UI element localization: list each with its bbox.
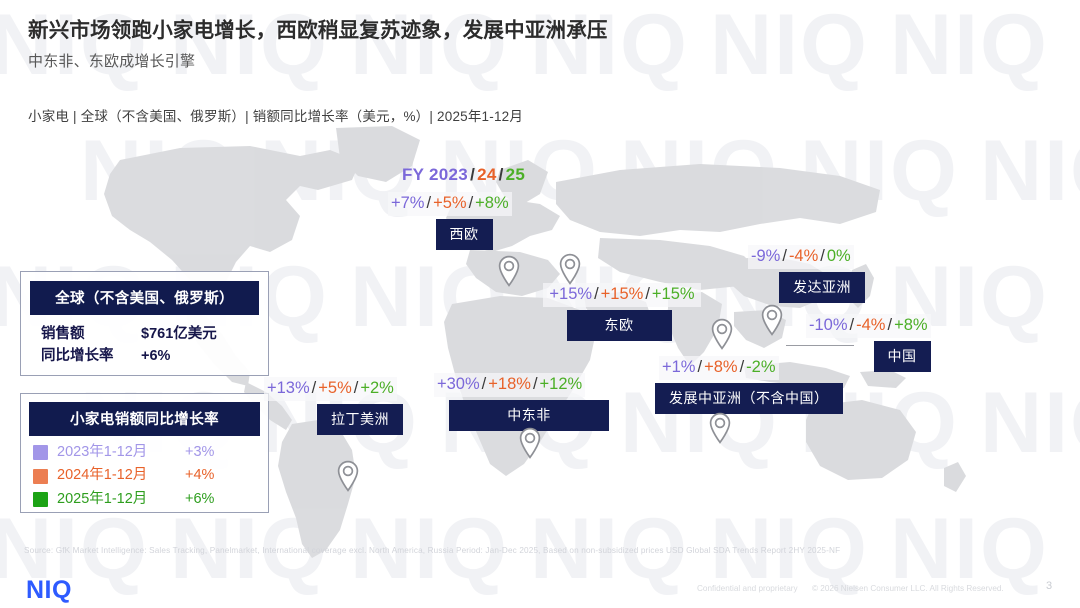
global-panel-rows: 销售额 $761亿美元 同比增长率 +6% (21, 315, 268, 368)
latam-2025-value: +2% (360, 379, 393, 397)
page-meta-line: 小家电 | 全球（不含美国、俄罗斯）| 销额同比增长率（美元，%）| 2025年… (28, 105, 523, 125)
page-number: 3 (1046, 580, 1052, 592)
fy-legend-header: FY 2023/24/25 (402, 165, 525, 185)
region-west-europe: +7%/+5%/+8% 西欧 (388, 192, 540, 250)
region-developed-asia-values: -9%/-4%/0% (748, 245, 854, 269)
watermark-text: NIQ (620, 128, 779, 214)
niq-logo: NIQ (26, 576, 72, 605)
mea-2024-value: +18% (488, 375, 531, 393)
map-pin-west-europe-icon (497, 255, 521, 292)
list-item: 2025年1-12月 +6% (33, 488, 268, 511)
region-developed-asia-label: 发达亚洲 (779, 272, 865, 303)
fy-2025-label: 25 (506, 165, 526, 184)
page-title: 新兴市场领跑小家电增长，西欧稍显复苏迹象，发展中亚洲承压 (28, 18, 1048, 44)
developed-asia-2023-value: -9% (751, 247, 780, 265)
developing-asia-2025-value: -2% (746, 358, 775, 376)
legend-label-2024: 2024年1-12月 (57, 464, 185, 487)
page-subtitle: 中东非、东欧成增长引擎 (28, 50, 1048, 71)
watermark-text: NIQ (800, 128, 959, 214)
region-developed-asia: -9%/-4%/0% 发达亚洲 (748, 245, 896, 303)
global-panel-title: 全球（不含美国、俄罗斯） (30, 281, 259, 315)
watermark-text: NIQ (980, 380, 1080, 466)
map-pin-latam-icon (336, 460, 360, 497)
global-growth-key: 同比增长率 (41, 345, 141, 367)
region-east-europe: +15%/+15%/+15% 东欧 (543, 283, 703, 341)
china-2024-value: -4% (856, 316, 885, 334)
region-east-europe-label: 东欧 (567, 310, 672, 341)
fy-sep-2: / (497, 165, 506, 184)
developing-asia-2023-value: +1% (662, 358, 695, 376)
slide-root: NIQ NIQ NIQ NIQ NIQ NIQ NIQ NIQ NIQ NIQ … (0, 0, 1080, 608)
region-latam-values: +13%/+5%/+2% (264, 377, 397, 401)
region-west-europe-values: +7%/+5%/+8% (388, 192, 512, 216)
table-row: 同比增长率 +6% (41, 345, 268, 367)
watermark-text: NIQ (350, 254, 509, 340)
region-mea-values: +30%/+18%/+12% (434, 373, 585, 397)
map-pin-developing-asia-west-icon (710, 318, 734, 355)
legend-value-2025: +6% (185, 488, 214, 511)
developed-asia-2024-value: -4% (789, 247, 818, 265)
region-developing-asia: +1%/+8%/-2% 发展中亚洲（不含中国） (655, 356, 843, 414)
east-europe-2025-value: +15% (652, 285, 695, 303)
region-middle-east-africa: +30%/+18%/+12% 中东非 (434, 373, 624, 431)
legend-value-2023: +3% (185, 441, 214, 464)
watermark-text: NIQ (80, 128, 239, 214)
legend-label-2025: 2025年1-12月 (57, 488, 185, 511)
fy-2023-label: FY 2023 (402, 165, 468, 184)
fy-sep-1: / (468, 165, 477, 184)
map-pin-east-europe-icon (558, 253, 582, 290)
footer-confidential-text: Confidential and proprietary (697, 584, 798, 593)
east-europe-2024-value: +15% (601, 285, 644, 303)
region-latam-label: 拉丁美洲 (317, 404, 403, 435)
list-item: 2024年1-12月 +4% (33, 464, 268, 487)
fy-2024-label: 24 (477, 165, 497, 184)
global-summary-panel: 全球（不含美国、俄罗斯） 销售额 $761亿美元 同比增长率 +6% (20, 271, 269, 376)
global-sales-key: 销售额 (41, 323, 141, 345)
china-2025-value: +8% (894, 316, 927, 334)
map-pin-china-icon (760, 304, 784, 341)
latam-2024-value: +5% (318, 379, 351, 397)
table-row: 销售额 $761亿美元 (41, 323, 268, 345)
legend-swatch-2024-icon (33, 469, 48, 484)
source-note: Source: GfK Market Intelligence: Sales T… (24, 546, 840, 555)
legend-label-2023: 2023年1-12月 (57, 441, 185, 464)
region-china-values: -10%/-4%/+8% (806, 314, 931, 338)
mea-2025-value: +12% (540, 375, 583, 393)
developing-asia-2024-value: +8% (704, 358, 737, 376)
legend-rows: 2023年1-12月 +3% 2024年1-12月 +4% 2025年1-12月… (21, 436, 268, 511)
legend-panel-title: 小家电销额同比增长率 (29, 402, 260, 436)
west-europe-2025-value: +8% (475, 194, 508, 212)
map-pin-mea-icon (518, 427, 542, 464)
developed-asia-2025-value: 0% (827, 247, 851, 265)
watermark-text: NIQ (890, 506, 1049, 592)
page-header: 新兴市场领跑小家电增长，西欧稍显复苏迹象，发展中亚洲承压 中东非、东欧成增长引擎 (28, 18, 1048, 71)
global-sales-value: $761亿美元 (141, 323, 217, 345)
region-latin-america: +13%/+5%/+2% 拉丁美洲 (264, 377, 434, 435)
latam-2023-value: +13% (267, 379, 310, 397)
china-2023-value: -10% (809, 316, 848, 334)
watermark-text: NIQ (980, 128, 1080, 214)
region-china-label: 中国 (874, 341, 931, 372)
legend-swatch-2023-icon (33, 445, 48, 460)
mea-2023-value: +30% (437, 375, 480, 393)
west-europe-2024-value: +5% (433, 194, 466, 212)
west-europe-2023-value: +7% (391, 194, 424, 212)
legend-value-2024: +4% (185, 464, 214, 487)
footer-copyright-text: © 2026 Nielsen Consumer LLC. All Rights … (812, 584, 1004, 593)
region-developing-asia-label: 发展中亚洲（不含中国） (655, 383, 843, 414)
growth-legend-panel: 小家电销额同比增长率 2023年1-12月 +3% 2024年1-12月 +4%… (20, 393, 269, 513)
global-growth-value: +6% (141, 345, 170, 367)
region-developing-asia-values: +1%/+8%/-2% (659, 356, 779, 380)
legend-swatch-2025-icon (33, 492, 48, 507)
map-pin-developing-asia-icon (708, 412, 732, 449)
list-item: 2023年1-12月 +3% (33, 441, 268, 464)
region-west-europe-label: 西欧 (436, 219, 493, 250)
